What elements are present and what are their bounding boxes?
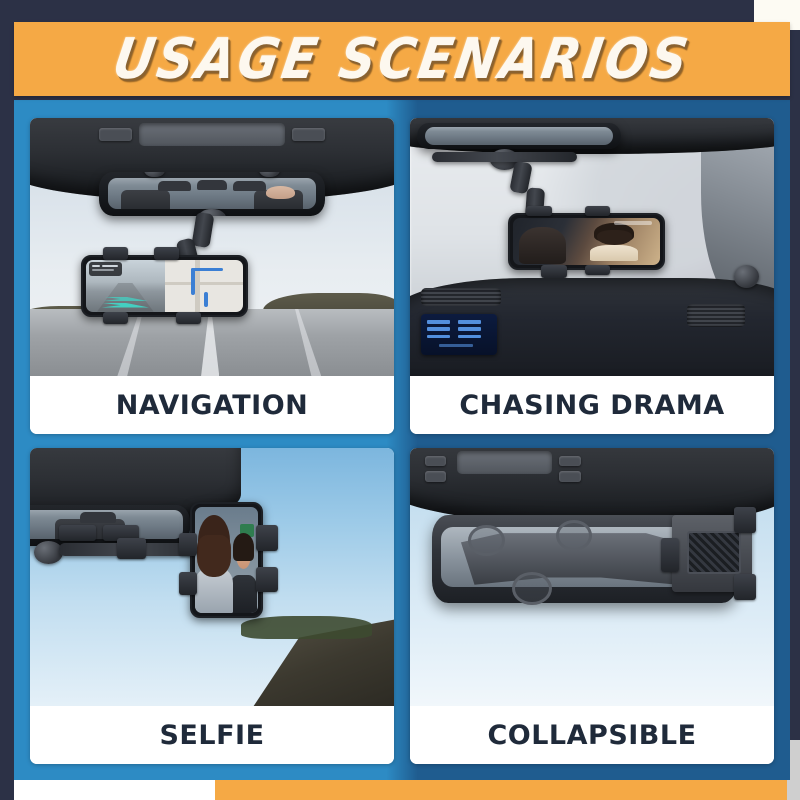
mount-hinge-ring-center[interactable] [556, 520, 592, 551]
front-person-hair [198, 515, 230, 567]
collapsible-caption: COLLAPSIBLE [410, 706, 774, 764]
scenario-label-selfie: SELFIE [159, 720, 264, 751]
cradle-grip-left[interactable] [661, 538, 679, 572]
arm-joint-clamp[interactable] [117, 538, 146, 559]
headrest-center [197, 180, 226, 190]
hud-line-1 [92, 265, 101, 267]
mirror-adjust-knob[interactable] [34, 541, 63, 564]
selfie-person-back [230, 539, 256, 613]
mirror-mount-knob-left[interactable] [144, 172, 164, 177]
scenario-label-navigation: NAVIGATION [116, 390, 309, 421]
head-unit-item-5 [427, 335, 450, 339]
head-unit-item-3 [427, 327, 450, 331]
navigation-caption: NAVIGATION [30, 376, 394, 434]
headrest-left [158, 181, 191, 191]
scenario-label-collapsible: COLLAPSIBLE [487, 720, 696, 751]
map-road-horizontal [165, 282, 244, 286]
selfie-screen [195, 507, 258, 613]
mounted-phone-selfie[interactable] [190, 502, 263, 618]
phone-clamp-top-right[interactable] [585, 206, 610, 216]
rear-seat-left [121, 190, 171, 209]
actress-body [590, 245, 638, 262]
headrest-right [233, 181, 266, 191]
phone-clamp-right-upper[interactable] [256, 525, 278, 551]
mirror-mount-knob-right[interactable] [259, 172, 279, 177]
back-person-hair [233, 533, 254, 561]
phone-clamp-bottom-left[interactable] [541, 265, 566, 278]
scenario-label-chasing-drama: CHASING DRAMA [459, 390, 724, 421]
head-unit-display[interactable] [421, 314, 497, 355]
overhead-console-button-1[interactable] [425, 456, 447, 466]
overhead-console-button-left[interactable] [99, 128, 132, 141]
mirror-clip-left[interactable] [59, 525, 95, 540]
scenario-grid: NAVIGATION [14, 100, 790, 780]
ar-road-view [86, 260, 165, 312]
phone-clamp-top-right[interactable] [154, 247, 179, 260]
scenario-card-collapsible[interactable]: COLLAPSIBLE [410, 448, 774, 764]
mounted-phone-navigation[interactable] [81, 255, 248, 317]
rearview-mirror [417, 123, 621, 149]
phone-clamp-top-left[interactable] [103, 247, 128, 260]
scenario-card-navigation[interactable]: NAVIGATION [30, 118, 394, 434]
overhead-console-button-right[interactable] [292, 128, 325, 141]
overhead-console-button-3[interactable] [559, 456, 581, 466]
sunroof-panel [457, 451, 552, 474]
mount-hinge-ring-left[interactable] [468, 525, 504, 556]
phone-clamp-left-upper[interactable] [179, 533, 197, 556]
phone-cradle-backplate [687, 531, 742, 575]
left-dark-edge [0, 0, 14, 800]
dashboard-vent-right[interactable] [687, 304, 745, 327]
phone-clamp-bottom-left[interactable] [103, 312, 128, 325]
overhead-console-button-2[interactable] [425, 471, 447, 481]
rear-passenger-glimpse [266, 186, 295, 199]
navigation-hud-panel [89, 262, 122, 275]
drama-actress [589, 225, 639, 261]
phone-clamp-bottom-right[interactable] [176, 312, 201, 325]
dashboard-vent-left[interactable] [421, 288, 501, 306]
cradle-arm-bottom[interactable] [734, 574, 756, 600]
head-unit-item-6 [458, 335, 481, 339]
head-unit-item-7 [439, 344, 473, 347]
scenario-card-selfie[interactable]: SELFIE [30, 448, 394, 764]
cliff-vegetation [241, 616, 372, 639]
map-route-line [191, 268, 195, 295]
mount-arm-horizontal [432, 152, 578, 162]
map-route-turn [191, 268, 222, 271]
overhead-console-button-4[interactable] [559, 471, 581, 481]
mount-hinge-ring-bottom[interactable] [512, 572, 552, 606]
map-route-tail [204, 292, 208, 308]
foreground-silhouette [519, 227, 566, 264]
drama-screen [513, 218, 660, 265]
actress-hair [594, 223, 634, 243]
mirror-glass [108, 178, 316, 209]
head-unit-item-1 [427, 320, 450, 324]
headrest [80, 512, 115, 524]
back-person-torso [230, 575, 256, 614]
collapsible-photo [410, 448, 774, 706]
mounted-phone-drama[interactable] [508, 213, 665, 270]
head-unit-item-4 [458, 327, 481, 331]
chasing-drama-caption: CHASING DRAMA [410, 376, 774, 434]
hud-line-3 [92, 269, 114, 271]
selfie-photo [30, 448, 394, 706]
poster-canvas: USAGE SCENARIOS [0, 0, 800, 800]
scenario-card-chasing-drama[interactable]: CHASING DRAMA [410, 118, 774, 434]
page-title: USAGE SCENARIOS [109, 27, 695, 92]
hud-line-2 [102, 265, 118, 267]
head-unit-item-2 [458, 320, 481, 324]
cradle-arm-top[interactable] [734, 507, 756, 533]
chasing-drama-photo [410, 118, 774, 376]
navigation-photo [30, 118, 394, 376]
phone-clamp-right-lower[interactable] [256, 567, 278, 593]
video-overlay-controls[interactable] [614, 221, 652, 225]
phone-clamp-bottom-right[interactable] [585, 265, 610, 275]
bottom-left-white-edge [0, 778, 215, 800]
phone-clamp-left-lower[interactable] [179, 572, 197, 595]
phone-clamp-top-left[interactable] [526, 206, 551, 216]
selfie-person-front [196, 520, 231, 613]
sunroof-panel [139, 123, 285, 146]
navigation-screen [86, 260, 243, 312]
header-banner: USAGE SCENARIOS [14, 22, 790, 96]
selfie-caption: SELFIE [30, 706, 394, 764]
mirror-glass [425, 127, 613, 145]
rearview-mirror [99, 172, 325, 216]
map-view [165, 260, 244, 312]
